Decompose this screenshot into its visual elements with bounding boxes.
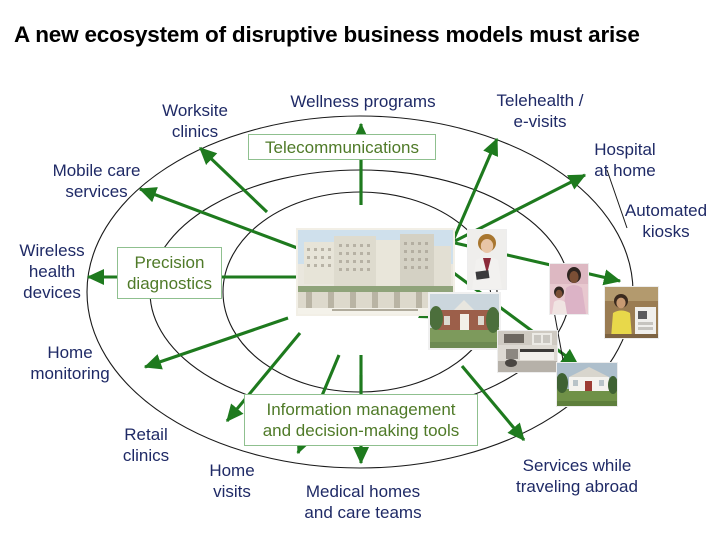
- exam-room-photo: [497, 330, 558, 373]
- box-telecommunications[interactable]: Telecommunications: [248, 134, 436, 160]
- label-hospital-at-home: Hospital at home: [570, 139, 680, 181]
- box-information-management[interactable]: Information management and decision-maki…: [244, 394, 478, 446]
- house-photo: [556, 362, 618, 407]
- label-wellness-programs: Wellness programs: [278, 91, 448, 112]
- arrow-to-telehealth: [452, 139, 497, 243]
- label-wireless-health-devices: Wireless health devices: [4, 240, 100, 303]
- label-services-traveling-abroad: Services while traveling abroad: [497, 455, 657, 497]
- arrow-to-mobile-care: [140, 189, 300, 249]
- arrow-to-home-monitoring: [145, 318, 288, 367]
- label-home-visits: Home visits: [193, 460, 271, 502]
- label-medical-homes: Medical homes and care teams: [288, 481, 438, 523]
- clinic-exterior-photo: [428, 292, 501, 350]
- clinician-tablet-photo: [467, 229, 507, 290]
- box-precision-diagnostics[interactable]: Precision diagnostics: [117, 247, 222, 299]
- label-automated-kiosks: Automated kiosks: [612, 200, 720, 242]
- label-retail-clinics: Retail clinics: [104, 424, 188, 466]
- label-telehealth-evisits: Telehealth / e-visits: [476, 90, 604, 132]
- mother-and-child-photo: [549, 263, 589, 315]
- label-worksite-clinics: Worksite clinics: [140, 100, 250, 142]
- patient-equipment-photo: [604, 286, 659, 339]
- label-home-monitoring: Home monitoring: [10, 342, 130, 384]
- slide-canvas: A new ecosystem of disruptive business m…: [0, 0, 720, 540]
- label-mobile-care-services: Mobile care services: [34, 160, 159, 202]
